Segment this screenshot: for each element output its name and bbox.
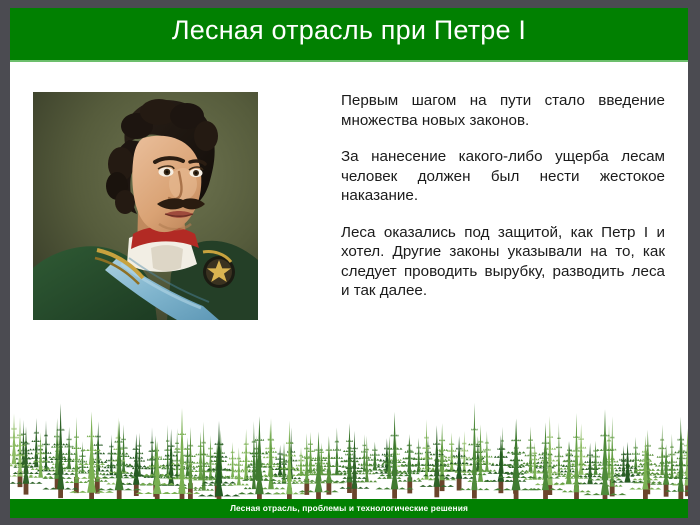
slide-content-area: Первым шагом на пути стало введение множ… [10,64,688,499]
forest-treeline-illustration [10,383,688,499]
slide-canvas: Лесная отрасль при Петре I [10,8,688,518]
paragraph-2: За нанесение какого-либо ущерба лесам че… [341,147,665,206]
slide-header-bar: Лесная отрасль при Петре I [10,8,688,62]
portrait-artwork [33,92,258,320]
body-text-block: Первым шагом на пути стало введение множ… [341,91,665,301]
forest-artwork [10,383,688,499]
footer-caption: Лесная отрасль, проблемы и технологическ… [10,503,688,513]
slide-footer-bar: Лесная отрасль, проблемы и технологическ… [10,499,688,518]
slide-title: Лесная отрасль при Петре I [10,15,688,46]
paragraph-1: Первым шагом на пути стало введение множ… [341,91,665,130]
portrait-peter-the-great [33,92,258,320]
paragraph-3: Леса оказались под защитой, как Петр I и… [341,223,665,301]
